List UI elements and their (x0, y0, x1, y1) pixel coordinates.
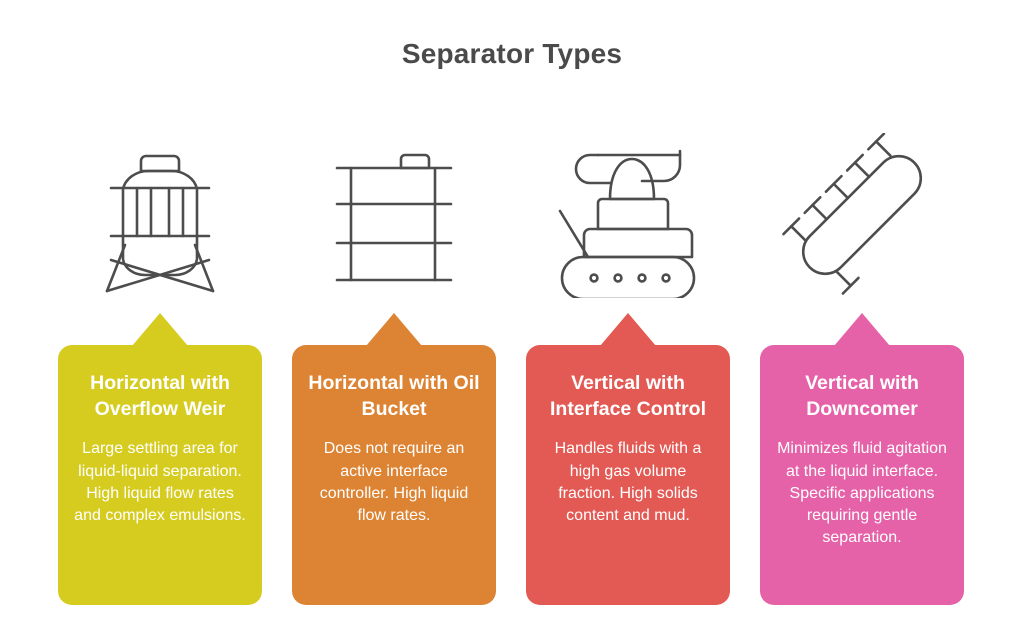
card-description: Minimizes fluid agitation at the liquid … (774, 438, 950, 548)
card-title: Vertical with Interface Control (540, 371, 716, 422)
card-title: Horizontal with Oil Bucket (306, 371, 482, 422)
card-pointer (834, 313, 890, 346)
separator-card-horizontal-overflow-weir[interactable]: Horizontal with Overflow Weir Large sett… (58, 313, 262, 605)
separator-card-vertical-interface-control[interactable]: Vertical with Interface Control Handles … (526, 313, 730, 605)
icon-row (0, 125, 1024, 305)
card-row: Horizontal with Overflow Weir Large sett… (0, 313, 1024, 608)
card-title: Vertical with Downcomer (774, 371, 950, 422)
card-body: Vertical with Interface Control Handles … (526, 345, 730, 605)
banded-drum-icon (292, 125, 496, 305)
card-description: Handles fluids with a high gas volume fr… (540, 438, 716, 526)
card-body: Horizontal with Oil Bucket Does not requ… (292, 345, 496, 605)
card-pointer (366, 313, 422, 346)
card-body: Vertical with Downcomer Minimizes fluid … (760, 345, 964, 605)
page-title: Separator Types (0, 38, 1024, 70)
inclined-capsule-vessel-icon (760, 125, 964, 305)
separator-card-vertical-downcomer[interactable]: Vertical with Downcomer Minimizes fluid … (760, 313, 964, 605)
separator-card-horizontal-oil-bucket[interactable]: Horizontal with Oil Bucket Does not requ… (292, 313, 496, 605)
card-body: Horizontal with Overflow Weir Large sett… (58, 345, 262, 605)
card-pointer (600, 313, 656, 346)
card-pointer (132, 313, 188, 346)
stacked-vessel-icon (526, 125, 730, 305)
water-tower-tank-icon (58, 125, 262, 305)
card-description: Does not require an active interface con… (306, 438, 482, 526)
card-title: Horizontal with Overflow Weir (72, 371, 248, 422)
card-description: Large settling area for liquid-liquid se… (72, 438, 248, 526)
